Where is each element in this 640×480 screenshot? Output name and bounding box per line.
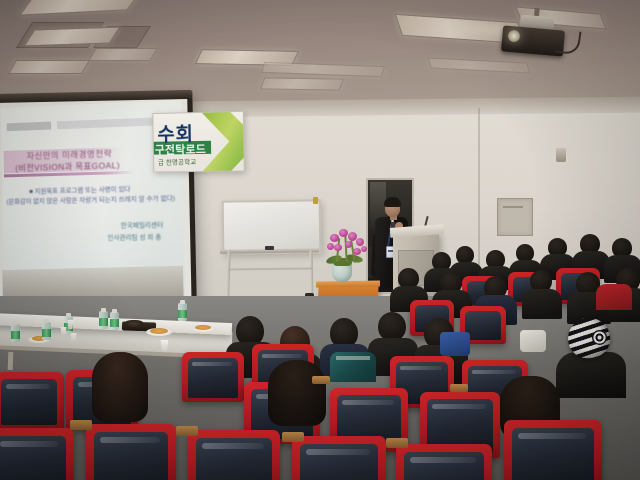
auditorium-seat[interactable] — [504, 420, 602, 480]
seat-cushion — [465, 311, 501, 340]
seat-highlight — [400, 366, 442, 370]
ceiling-light-fixture — [261, 62, 385, 77]
banner-subtitle-secondary: 급 천명공학교 — [158, 156, 197, 166]
ceiling-light-fixture — [8, 60, 90, 74]
water-bottle-cap — [101, 308, 106, 312]
water-bottle-cap — [112, 309, 117, 313]
slide-credit-organization: 한국페밀리센터 — [121, 219, 164, 230]
wall-hook-icon — [556, 148, 566, 162]
audience-shoulders — [522, 289, 562, 319]
ceiling-light-fixture — [88, 48, 158, 61]
water-bottle-label — [178, 310, 187, 318]
speaker-hair — [384, 197, 401, 207]
seat-armrest — [450, 384, 468, 392]
snack-food — [150, 328, 168, 334]
snack-food-dark — [125, 320, 143, 327]
seat-armrest — [312, 376, 330, 384]
snack-food — [195, 325, 211, 330]
seat-highlight — [342, 400, 394, 405]
audience-blue-bag — [440, 332, 470, 356]
seat-highlight — [6, 384, 50, 389]
seat-highlight — [202, 443, 264, 449]
orchid-flower — [356, 238, 364, 246]
wall-access-panel-seam — [503, 206, 523, 208]
orchid-flower — [330, 234, 339, 242]
slide-header-bar — [7, 122, 51, 132]
audience-long-hair — [268, 360, 326, 426]
water-bottle-label — [99, 318, 108, 326]
seat-highlight — [192, 362, 232, 366]
auditorium-seat[interactable] — [396, 444, 492, 480]
seat-highlight — [472, 370, 516, 374]
audience-striped-beanie-body — [556, 352, 626, 398]
whiteboard-knob — [313, 197, 318, 204]
banner-subtitle: 구전탁로드 — [155, 141, 207, 158]
orchid-flower — [361, 246, 367, 252]
striped-beanie-crown-swirl — [592, 330, 607, 345]
water-bottle-cap — [44, 319, 49, 323]
auditorium-seat[interactable] — [182, 352, 244, 402]
audience-white-item — [520, 330, 546, 352]
orchid-display-table-top — [316, 280, 380, 287]
seat-highlight — [306, 449, 370, 455]
orchid-flower — [339, 229, 348, 237]
audience-head — [378, 312, 406, 341]
auditorium-seat[interactable] — [0, 372, 64, 430]
audience-long-hair — [92, 352, 148, 422]
event-banner: 수회 구전탁로드 급 천명공학교 — [152, 111, 245, 173]
projection-screen-lower-shade — [2, 266, 183, 300]
seat-highlight — [100, 437, 160, 443]
orchid-flower — [345, 241, 352, 248]
auditorium-seat[interactable] — [188, 430, 280, 480]
wall-access-panel — [497, 198, 533, 236]
audience-red-jacket — [596, 284, 632, 310]
seat-armrest — [386, 438, 408, 448]
water-bottle-label — [110, 319, 119, 327]
ceiling-light-fixture — [24, 27, 121, 47]
table-leg — [8, 352, 14, 370]
orchid-flower — [334, 244, 342, 251]
orchid-flower — [353, 248, 361, 255]
wall-seam — [478, 108, 480, 268]
water-bottle-cap — [66, 313, 71, 317]
seat-highlight — [410, 457, 476, 463]
ceiling-light-fixture — [260, 77, 344, 90]
auditorium-seat[interactable] — [0, 428, 74, 480]
seat-armrest — [176, 426, 198, 436]
whiteboard-marker — [265, 246, 274, 250]
seat-highlight — [262, 354, 302, 358]
seat-highlight — [432, 404, 486, 409]
water-bottle-cap — [180, 300, 185, 304]
auditorium-seat[interactable] — [292, 436, 386, 480]
water-bottle-cap — [13, 321, 18, 325]
ceiling-light-fixture — [428, 57, 531, 73]
orchid-flower — [327, 243, 334, 250]
audience-scarf-stripe — [336, 356, 370, 360]
slide-credit-presenter: 인사관리팀 성 희 총 — [107, 231, 161, 242]
seat-highlight — [0, 441, 58, 447]
seat-armrest — [70, 420, 92, 430]
water-bottle-label — [11, 331, 20, 339]
seat-highlight — [518, 433, 586, 439]
ceiling-light-fixture — [19, 0, 141, 16]
seat-armrest — [282, 432, 304, 442]
water-bottle-label — [42, 329, 51, 337]
lecture-hall-photo: 자신만의 미래경영전략 (비전VISION과 목표GOAL) ■ 지원목표 프로… — [0, 0, 640, 480]
auditorium-seat[interactable] — [86, 424, 176, 480]
